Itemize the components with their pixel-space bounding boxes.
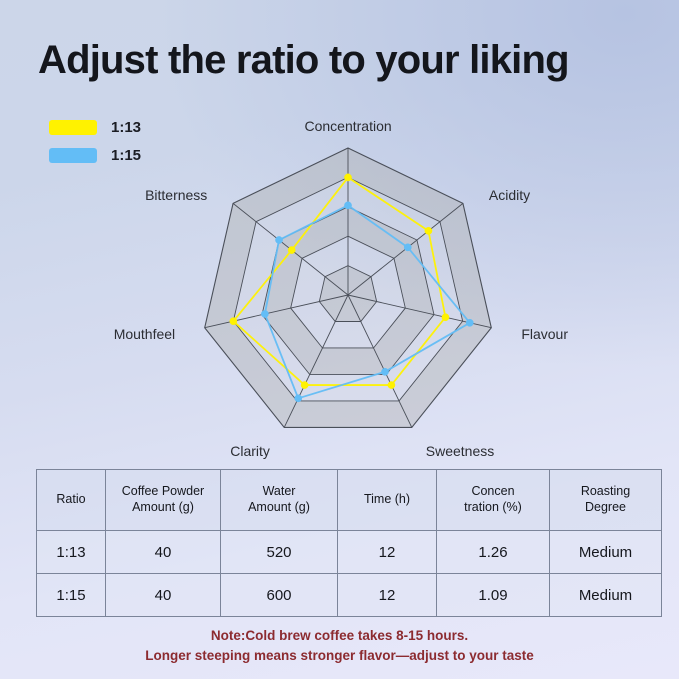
legend-swatch-blue <box>49 148 97 163</box>
note-line-1: Note:Cold brew coffee takes 8-15 hours. <box>0 626 679 646</box>
radar-point-2 <box>344 202 351 209</box>
col-header-concentration: Concentration (%) <box>437 470 550 531</box>
table-row: 1:1540600121.09Medium <box>37 574 662 617</box>
table-header-row: Ratio Coffee PowderAmount (g) WaterAmoun… <box>37 470 662 531</box>
table-cell: 12 <box>338 531 437 574</box>
radar-axis-label-bitterness: Bitterness <box>145 187 207 203</box>
table-cell: 600 <box>221 574 338 617</box>
table-cell: 1:13 <box>37 531 106 574</box>
radar-point-1 <box>230 318 237 325</box>
page-title: Adjust the ratio to your liking <box>38 38 569 83</box>
footer-note: Note:Cold brew coffee takes 8-15 hours. … <box>0 626 679 665</box>
radar-axis-label-acidity: Acidity <box>489 187 530 203</box>
radar-point-1 <box>301 381 308 388</box>
radar-axis-label-sweetness: Sweetness <box>426 443 494 459</box>
table-cell: 40 <box>106 574 221 617</box>
table-header: Ratio Coffee PowderAmount (g) WaterAmoun… <box>37 470 662 531</box>
radar-point-2 <box>295 395 302 402</box>
col-header-time: Time (h) <box>338 470 437 531</box>
radar-point-2 <box>466 319 473 326</box>
col-header-ratio: Ratio <box>37 470 106 531</box>
table-cell: 40 <box>106 531 221 574</box>
radar-svg <box>118 118 588 478</box>
radar-point-2 <box>275 236 282 243</box>
table-cell: Medium <box>550 574 662 617</box>
radar-point-1 <box>425 227 432 234</box>
legend-swatch-yellow <box>49 120 97 135</box>
brew-parameters-table: Ratio Coffee PowderAmount (g) WaterAmoun… <box>36 469 662 617</box>
radar-axis-label-flavour: Flavour <box>521 326 568 342</box>
table-row: 1:1340520121.26Medium <box>37 531 662 574</box>
radar-axis-label-clarity: Clarity <box>230 443 270 459</box>
radar-point-2 <box>381 368 388 375</box>
table-body: 1:1340520121.26Medium1:1540600121.09Medi… <box>37 531 662 617</box>
poster-root: Adjust the ratio to your liking 1:13 1:1… <box>0 0 679 679</box>
table-cell: 12 <box>338 574 437 617</box>
table-cell: 520 <box>221 531 338 574</box>
radar-point-2 <box>261 310 268 317</box>
radar-chart: ConcentrationAcidityFlavourSweetnessClar… <box>118 118 588 478</box>
radar-point-1 <box>344 174 351 181</box>
table-cell: 1.26 <box>437 531 550 574</box>
radar-point-1 <box>442 314 449 321</box>
table-cell: 1.09 <box>437 574 550 617</box>
radar-point-1 <box>388 381 395 388</box>
radar-axis-label-concentration: Concentration <box>305 118 392 134</box>
radar-point-1 <box>288 246 295 253</box>
radar-axis-label-mouthfeel: Mouthfeel <box>114 326 175 342</box>
table-cell: Medium <box>550 531 662 574</box>
note-line-2: Longer steeping means stronger flavor—ad… <box>0 646 679 666</box>
col-header-water: WaterAmount (g) <box>221 470 338 531</box>
col-header-roasting: RoastingDegree <box>550 470 662 531</box>
table-cell: 1:15 <box>37 574 106 617</box>
radar-point-2 <box>404 244 411 251</box>
col-header-coffee-powder: Coffee PowderAmount (g) <box>106 470 221 531</box>
